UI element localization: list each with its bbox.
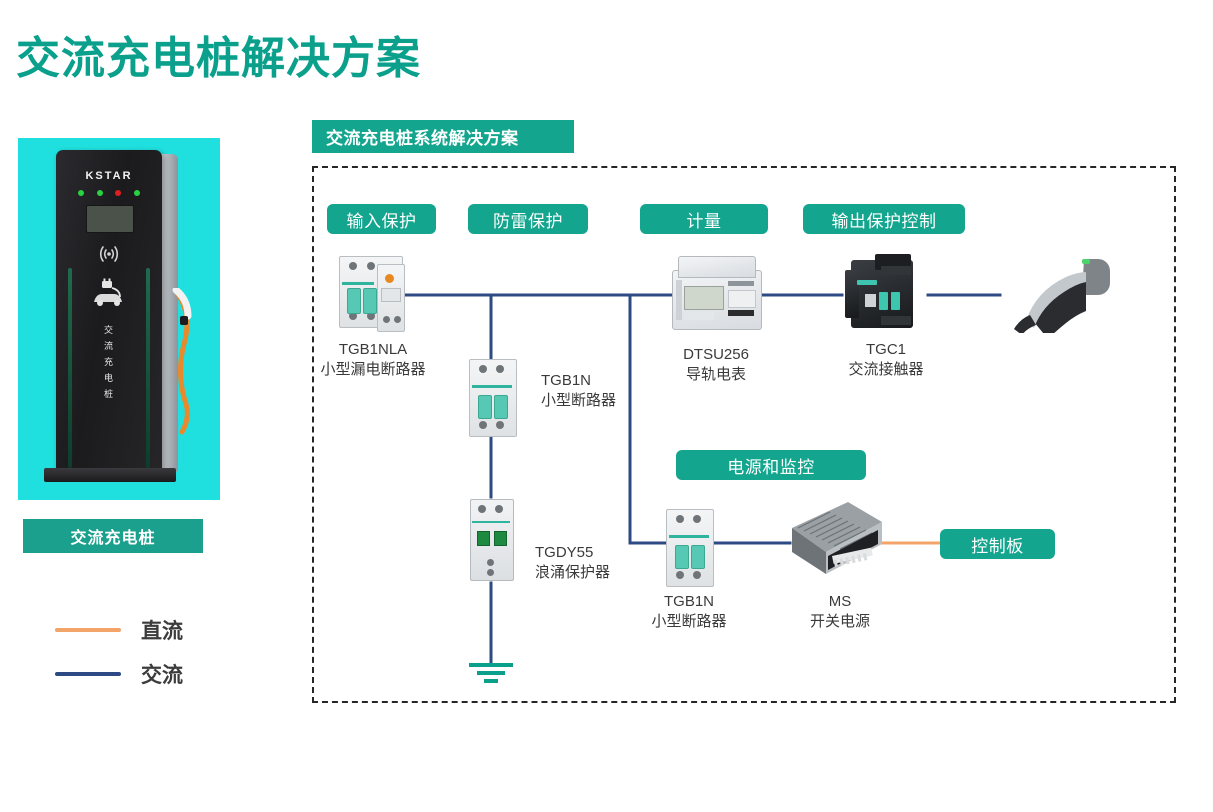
device-tgb1nla-rcbo[interactable] <box>337 250 409 338</box>
device-model: TGB1N <box>664 593 714 610</box>
ground-symbol <box>469 665 513 681</box>
device-model: TGB1NLA <box>339 341 407 358</box>
device-label-tgb1nla: TGB1NLA 小型漏电断路器 <box>320 340 425 380</box>
device-label-dtsu256: DTSU256 导轨电表 <box>683 345 749 385</box>
device-model: DTSU256 <box>683 346 749 363</box>
device-tgc1-contactor[interactable] <box>845 250 927 338</box>
device-label-ms: MS 开关电源 <box>810 592 870 632</box>
device-name: 交流接触器 <box>848 361 923 378</box>
device-tgb1n-mcb-upper[interactable] <box>467 355 517 439</box>
device-ms-power-supply[interactable] <box>786 500 884 580</box>
stage-pill-power-monitoring[interactable]: 电源和监控 <box>676 450 866 480</box>
device-label-tgb1n-upper: TGB1N 小型断路器 <box>541 371 616 411</box>
device-model: TGDY55 <box>535 544 593 561</box>
device-model: MS <box>829 593 852 610</box>
device-tgb1n-mcb-lower[interactable] <box>664 505 714 589</box>
device-tgdy55-spd[interactable] <box>468 497 514 583</box>
device-name: 小型漏电断路器 <box>320 361 425 378</box>
device-name: 浪涌保护器 <box>535 564 610 581</box>
stage-pill-control-board[interactable]: 控制板 <box>940 529 1055 559</box>
device-model: TGB1N <box>541 372 591 389</box>
stage-pill-input-protection[interactable]: 输入保护 <box>327 204 436 234</box>
device-name: 导轨电表 <box>686 366 746 383</box>
device-name: 小型断路器 <box>541 392 616 409</box>
device-model: TGC1 <box>866 341 906 358</box>
device-label-tgb1n-lower: TGB1N 小型断路器 <box>651 592 726 632</box>
stage-pill-surge-protection[interactable]: 防雷保护 <box>468 204 588 234</box>
ev-connector-gun <box>996 255 1112 333</box>
stage-pill-metering[interactable]: 计量 <box>640 204 768 234</box>
device-name: 开关电源 <box>810 613 870 630</box>
device-label-tgdy55: TGDY55 浪涌保护器 <box>535 543 610 583</box>
stage-pill-output-control[interactable]: 输出保护控制 <box>803 204 965 234</box>
device-label-tgc1: TGC1 交流接触器 <box>848 340 923 380</box>
device-dtsu256-meter[interactable] <box>668 248 764 340</box>
device-name: 小型断路器 <box>651 613 726 630</box>
